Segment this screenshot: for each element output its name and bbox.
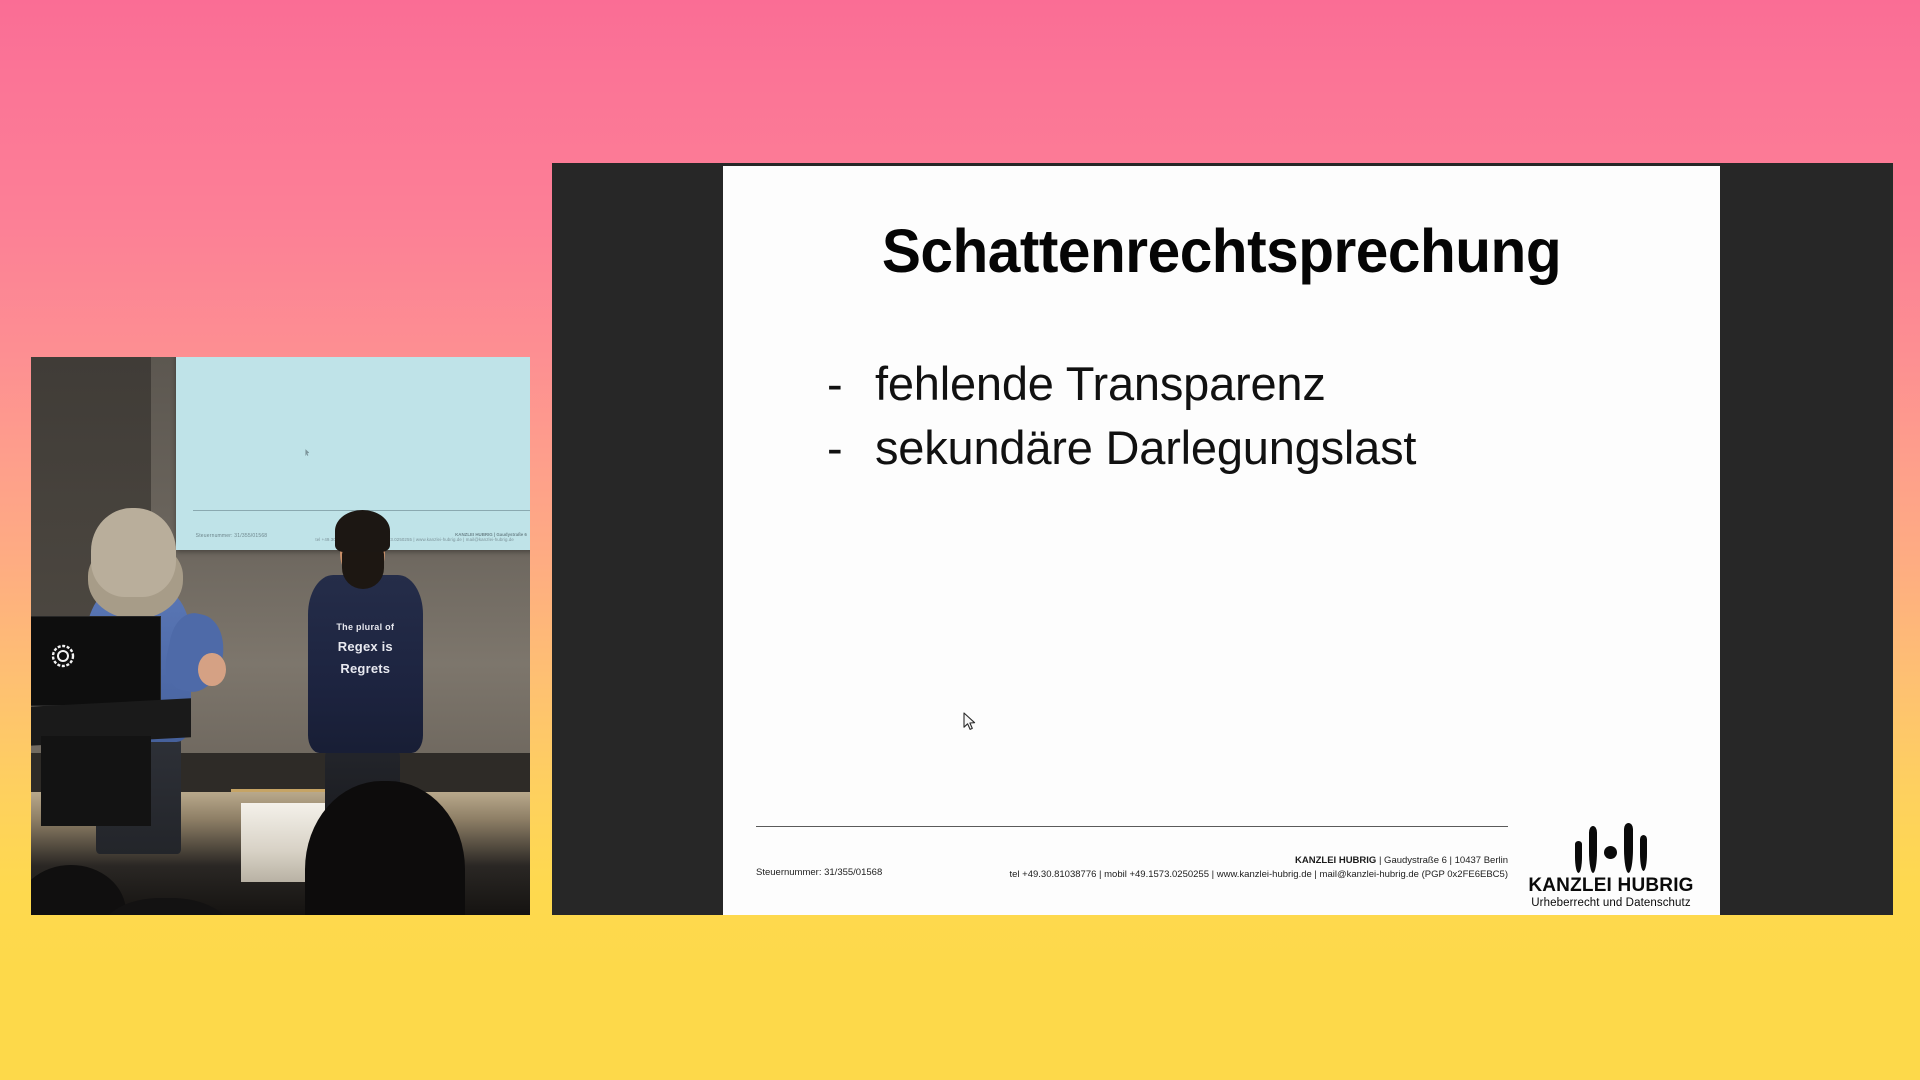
speaker-right-beard: [342, 547, 384, 589]
slide-bullet-text: fehlende Transparenz: [875, 352, 1326, 416]
mouse-pointer-icon: [963, 712, 976, 731]
slide-footer: Steuernummer: 31/355/01568 KANZLEI HUBRI…: [756, 838, 1508, 898]
footer-contact-line: tel +49.30.81038776 | mobil +49.1573.025…: [1009, 868, 1508, 882]
slide-footer-divider: [756, 826, 1508, 827]
gear-skull-sticker: [51, 644, 75, 668]
footer-steuernummer: Steuernummer: 31/355/01568: [756, 866, 882, 880]
slide-title: Schattenrechtsprechung: [743, 216, 1700, 286]
speaker-left-hair: [91, 508, 176, 597]
slide-bullet-text: sekundäre Darlegungslast: [875, 416, 1416, 480]
speaker-right-tshirt-line2: Regex is: [308, 639, 423, 654]
bullet-dash-icon: -: [827, 416, 875, 480]
presentation-stage: Steuernummer: 31/355/01568 tel +49.30.81…: [0, 0, 1920, 1080]
logo-name-text: KANZLEI HUBRIG: [1526, 876, 1696, 896]
footer-address: | Gaudystraße 6 | 10437 Berlin: [1376, 855, 1508, 866]
speaker-left-hand: [198, 653, 225, 686]
footer-firm-name: KANZLEI HUBRIG: [1295, 855, 1376, 866]
slide-bullet-list: - fehlende Transparenz - sekundäre Darle…: [827, 352, 1416, 481]
footer-contact-block: KANZLEI HUBRIG | Gaudystraße 6 | 10437 B…: [1009, 854, 1508, 883]
logo-mark-icon: [1526, 821, 1696, 873]
projected-footer-left: Steuernummer: 31/355/01568: [196, 533, 268, 539]
speaker-right-hair: [335, 510, 390, 552]
bullet-dash-icon: -: [827, 352, 875, 416]
laptop-stand: [41, 736, 151, 825]
slide-bullet-item: - sekundäre Darlegungslast: [827, 416, 1416, 480]
speaker-right-tshirt-line3: Regrets: [308, 661, 423, 676]
projected-footer-right: KANZLEI HUBRIG | Gaudystraße 6: [455, 532, 527, 537]
slide-canvas[interactable]: Schattenrechtsprechung - fehlende Transp…: [723, 166, 1720, 915]
kanzlei-hubrig-logo: KANZLEI HUBRIG Urheberrecht und Datensch…: [1526, 821, 1696, 909]
slide-bullet-item: - fehlende Transparenz: [827, 352, 1416, 416]
speaker-webcam-feed[interactable]: Steuernummer: 31/355/01568 tel +49.30.81…: [31, 357, 530, 915]
speaker-right-tshirt-line1: The plural of: [308, 622, 423, 632]
slide-viewer[interactable]: Schattenrechtsprechung - fehlende Transp…: [552, 163, 1893, 915]
logo-tagline-text: Urheberrecht und Datenschutz: [1526, 897, 1696, 909]
